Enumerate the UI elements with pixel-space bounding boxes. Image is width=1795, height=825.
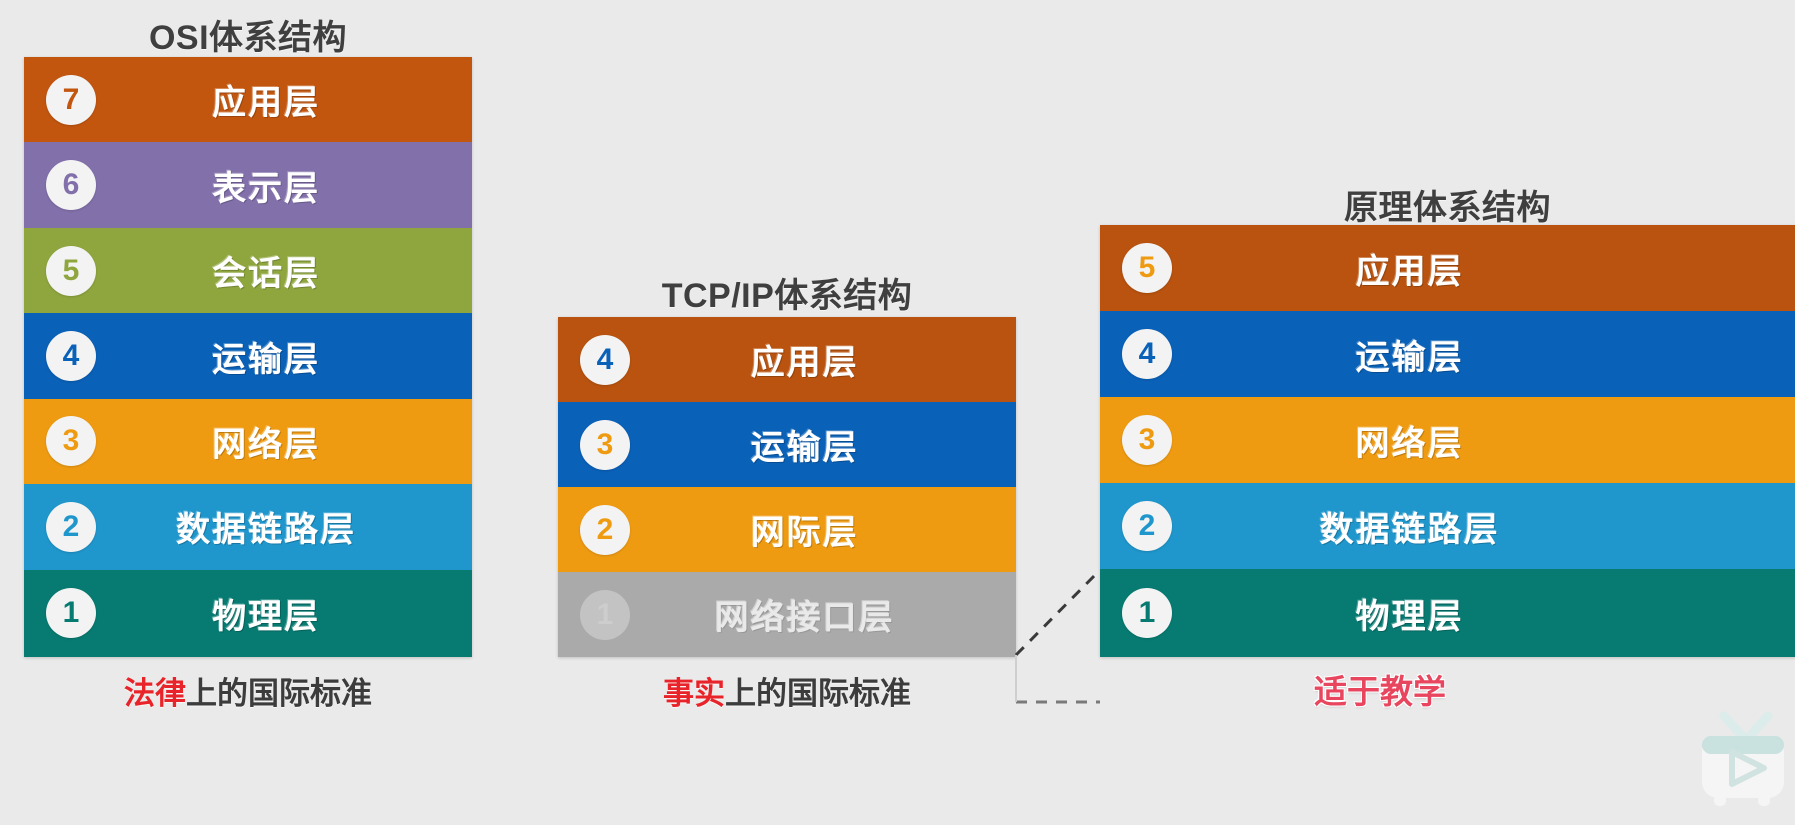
- layer-number-badge: 7: [46, 75, 96, 125]
- principle-caption-highlight: 适于教学: [1314, 673, 1446, 710]
- layer-label: 应用层: [96, 75, 436, 124]
- layer-number-badge: 3: [1122, 415, 1172, 465]
- layer-label: 网络层: [96, 417, 436, 466]
- layer-label: 物理层: [96, 589, 436, 638]
- tcpip-stack-title: TCP/IP体系结构: [558, 268, 1016, 317]
- layer-label: 表示层: [96, 161, 436, 210]
- layer-label: 运输层: [630, 420, 979, 469]
- layer-label: 数据链路层: [96, 502, 436, 551]
- layer-number-badge: 6: [46, 160, 96, 210]
- layer-label: 数据链路层: [1172, 502, 1647, 551]
- layer-label: 网际层: [630, 505, 979, 554]
- layer-number-badge: 1: [580, 590, 630, 640]
- osi-caption: 法律上的国际标准: [24, 668, 472, 713]
- layer-label: 网络接口层: [630, 590, 979, 639]
- layer-number-badge: 2: [580, 505, 630, 555]
- layer-number-badge: 5: [1122, 243, 1172, 293]
- tcpip-layer-3[interactable]: 3 运输层: [558, 402, 1016, 487]
- osi-layer-5[interactable]: 5 会话层: [24, 228, 472, 313]
- principle-stack-title: 原理体系结构: [1100, 180, 1795, 229]
- tcpip-stack: 4 应用层 3 运输层 2 网际层 1 网络接口层: [558, 317, 1016, 657]
- layer-number-badge: 4: [46, 331, 96, 381]
- layer-number-badge: 5: [46, 246, 96, 296]
- tcpip-layer-4[interactable]: 4 应用层: [558, 317, 1016, 402]
- layer-label: 会话层: [96, 246, 436, 295]
- layer-number-badge: 4: [1122, 329, 1172, 379]
- principle-caption: 适于教学: [1100, 665, 1660, 713]
- layer-number-badge: 3: [46, 416, 96, 466]
- principle-layer-5[interactable]: 5 应用层: [1100, 225, 1795, 311]
- osi-stack: 7 应用层 6 表示层 5 会话层 4 运输层 3 网络层 2 数据链路层 1 …: [24, 57, 472, 657]
- principle-layer-4[interactable]: 4 运输层: [1100, 311, 1795, 397]
- layer-number-badge: 1: [1122, 588, 1172, 638]
- principle-layer-3[interactable]: 3 网络层: [1100, 397, 1795, 483]
- principle-layer-2[interactable]: 2 数据链路层: [1100, 483, 1795, 569]
- osi-caption-highlight: 法律: [124, 676, 186, 711]
- tcpip-layer-1[interactable]: 1 网络接口层: [558, 572, 1016, 657]
- tcpip-caption: 事实上的国际标准: [558, 668, 1016, 713]
- layer-label: 运输层: [96, 332, 436, 381]
- osi-layer-7[interactable]: 7 应用层: [24, 57, 472, 142]
- osi-layer-4[interactable]: 4 运输层: [24, 313, 472, 398]
- osi-caption-rest: 上的国际标准: [186, 676, 372, 711]
- tv-logo-icon: [1694, 706, 1790, 818]
- layer-number-badge: 2: [1122, 501, 1172, 551]
- principle-layer-1[interactable]: 1 物理层: [1100, 569, 1795, 657]
- bilibili-tv-logo-watermark: [1694, 706, 1790, 818]
- layer-number-badge: 1: [46, 588, 96, 638]
- layer-label: 运输层: [1172, 330, 1647, 379]
- osi-layer-3[interactable]: 3 网络层: [24, 399, 472, 484]
- layer-number-badge: 3: [580, 420, 630, 470]
- layer-label: 应用层: [1172, 244, 1647, 293]
- layer-number-badge: 4: [580, 335, 630, 385]
- osi-layer-6[interactable]: 6 表示层: [24, 142, 472, 227]
- osi-layer-2[interactable]: 2 数据链路层: [24, 484, 472, 569]
- layer-label: 网络层: [1172, 416, 1647, 465]
- tcpip-caption-highlight: 事实: [663, 676, 725, 711]
- tcpip-to-principle-diagonal-line: [1016, 570, 1100, 655]
- layer-label: 应用层: [630, 335, 979, 384]
- layer-number-badge: 2: [46, 502, 96, 552]
- layer-label: 物理层: [1172, 589, 1647, 638]
- diagram-canvas: OSI体系结构 7 应用层 6 表示层 5 会话层 4 运输层 3 网络层 2 …: [0, 0, 1795, 825]
- osi-stack-title: OSI体系结构: [24, 10, 472, 59]
- osi-layer-1[interactable]: 1 物理层: [24, 570, 472, 657]
- tcpip-layer-2[interactable]: 2 网际层: [558, 487, 1016, 572]
- principle-stack: 5 应用层 4 运输层 3 网络层 2 数据链路层 1 物理层: [1100, 225, 1795, 657]
- tcpip-caption-rest: 上的国际标准: [725, 676, 911, 711]
